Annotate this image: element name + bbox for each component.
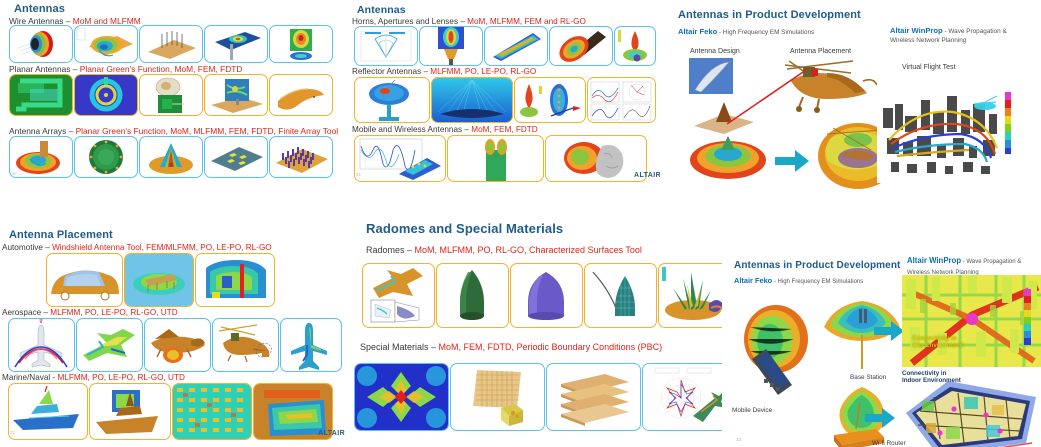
card-mobile-antenna-dual-element-on-board[interactable] [447,135,544,182]
altair-logo: ALTAIR [318,430,345,437]
card-planar-antenna-microstrip-current-density[interactable] [9,74,73,116]
row-label-planar-antennas: Planar Antennas – Planar Green's Functio… [9,64,242,74]
row-label-methods: MoM, FEM, FDTD [471,125,537,134]
isolated-antenna-pattern-graphic [685,130,771,182]
slide-antenna-placement: Antenna Placement Automotive – Windshiel… [0,220,345,447]
slide-antennas-2: Antennas Horns, Apertures and Lenses – M… [345,0,660,195]
row-label-text: Horns, Apertures and Lenses – [352,17,467,26]
card-large-reflector-surface-currents[interactable] [431,77,513,123]
brand-tagline: - High Frequency EM Simulations [717,29,814,36]
card-array-circular-aperture-mesh[interactable] [74,136,138,178]
card-array-main-beam-over-disc[interactable] [139,136,203,178]
row-label-methods: Planar Green's Function, MoM, FEM, FDTD [80,64,243,74]
card-planar-antenna-pcb-stackup[interactable] [139,74,203,116]
product-label-feko: Altair Feko - High Frequency EM Simulati… [678,27,814,36]
row-label-methods: Planar Green's Function, MoM, MLFMM, FEM… [76,126,339,136]
card-radome-boresight-error-pattern[interactable] [658,263,728,328]
row-label-marine-naval: Marine/Naval - MLFMM, PO, LE-PO, RL-GO, … [2,373,185,382]
slide-title: Antennas in Product Development [678,9,861,21]
row-label-mobile-wireless-antennas: Mobile and Wireless Antennas – MoM, FEM,… [352,125,538,134]
card-aerospace-transport-aircraft-with-lobe[interactable] [144,318,211,372]
brand-name: Altair WinProp [907,256,961,265]
row-label-methods: MLFMM, PO, LE-PO, RL-GO, UTD [50,308,177,317]
brand-name: Altair WinProp [890,26,943,35]
product-label-winprop: Altair WinProp - Wave Propagation & Wire… [890,27,1020,46]
slide-radomes: Radomes and Special Materials Radomes – … [352,215,730,447]
slides-composite-canvas: Antennas Wire Antennas – MoM and MLFMM [0,0,1041,447]
workflow-arrow-right-icon [775,150,809,172]
slide-title: Antennas [14,3,65,15]
brand-name: Altair Feko [678,27,717,36]
slide-title: Antennas in Product Development [734,260,900,271]
row-label-text: Automotive – [2,243,52,252]
brand-name: Altair Feko [734,276,772,285]
row-label-methods: MoM, MLFMM, FEM and RL-GO [467,17,586,26]
card-radome-solid-green-cone[interactable] [436,263,509,328]
card-naval-vessel-with-near-field-plane[interactable] [89,383,171,440]
mobile-device-pattern-graphic [736,297,824,407]
placement-ray-graphic [723,62,819,128]
page-number: 32 [10,430,15,435]
card-wire-antenna-mast-near-field-plane[interactable] [204,25,268,63]
card-radar-cross-section-polar-plot-aircraft[interactable] [642,363,730,431]
row-label-reflector-antennas: Reflector Antennas – MLFMM, PO, LE-PO, R… [352,67,536,76]
antenna-placement-caption: Antenna Placement [790,48,851,55]
row-label-text: Special Materials – [360,342,439,352]
card-array-3d-radiation-lobe-with-feed[interactable]: 30 [9,136,73,178]
slide-product-development-aero: Antennas in Product Development Altair F… [665,0,1041,195]
card-aerospace-airframe-field-distribution[interactable] [280,318,342,372]
workflow-arrow-indoor-icon [865,408,895,428]
card-radome-purple-ogive-dome[interactable] [510,263,583,328]
row-label-automotive: Automotive – Windshield Antenna Tool, FE… [2,243,272,252]
card-planar-antenna-curved-patch-substrate[interactable] [269,74,333,116]
card-automotive-windshield-antenna-car-model[interactable] [46,253,123,307]
card-array-four-patch-elements-on-plate[interactable] [204,136,268,178]
slide-product-development-wireless: Antennas in Product Development Altair F… [722,215,1041,447]
slide-antennas-1: Antennas Wire Antennas – MoM and MLFMM [0,0,340,195]
page-number: 33 [736,437,741,442]
row-label-text: Aerospace – [2,308,50,317]
card-automotive-cabin-field-distribution[interactable] [195,253,275,307]
row-label-text: Marine/Naval - [2,373,58,382]
colorbar [1005,92,1011,154]
card-naval-destroyer-surface-currents[interactable] [8,383,88,440]
card-metamaterial-jerusalem-cross-unit-cell-field[interactable] [354,363,449,431]
row-label-methods: Windshield Antenna Tool, FEM/MLFMM, PO, … [52,243,272,252]
brand-tagline: - High Frequency EM Simulations [772,279,863,285]
base-station-caption: Base Station [850,374,886,381]
card-aerospace-helicopter-with-uav[interactable] [212,318,279,372]
card-radome-aircraft-nose-cone-detail[interactable] [362,263,435,328]
card-radome-mesh-ogive-with-ray[interactable] [584,263,657,328]
card-lens-antenna-beam-with-colorbar[interactable] [614,26,656,66]
card-horn-antenna-polar-pattern-plot[interactable] [354,26,418,66]
row-label-text: Planar Antennas – [9,64,80,74]
card-naval-deck-field-map-grid[interactable] [172,383,252,440]
card-wire-antenna-field-map-with-disc[interactable] [269,25,333,63]
product-label-feko: Altair Feko - High Frequency EM Simulati… [734,276,863,285]
card-automotive-roof-antenna-radiation[interactable] [124,253,194,307]
slide-title: Antenna Placement [9,229,113,241]
altair-logo: ALTAIR [634,172,660,179]
card-wire-antenna-radiation-pattern-dish[interactable] [9,25,73,63]
city-coverage-map-graphic [902,275,1041,367]
card-aerospace-fighter-jet-currents[interactable] [76,318,143,372]
row-label-methods: MoM, FEM, FDTD, Periodic Boundary Condit… [439,342,663,352]
page-number: 30 [12,171,16,176]
virtual-flight-test-caption: Virtual Flight Test [902,64,955,71]
row-label-methods: MLFMM, PO, LE-PO, RL-GO, UTD [58,373,185,382]
page-number: 31 [356,172,361,177]
row-label-text: Reflector Antennas – [352,67,430,76]
indoor-connectivity-caption: Connectivity in Indoor Environment [902,370,961,385]
row-label-methods: MoM, MLFMM, PO, RL-GO, Characterized Sur… [415,245,642,255]
city-connectivity-caption: Connectivity in City Environment [912,335,963,350]
mobile-device-caption: Mobile Device [732,407,772,414]
row-label-horns-apertures-lenses: Horns, Apertures and Lenses – MoM, MLFMM… [352,17,586,26]
row-label-methods: MLFMM, PO, LE-PO, RL-GO [430,67,536,76]
card-array-finite-pin-lattice[interactable] [269,136,333,178]
slide-title: Radomes and Special Materials [366,221,563,236]
row-label-text: Mobile and Wireless Antennas – [352,125,471,134]
workflow-arrow-city-icon [874,321,904,341]
virtual-flight-test-city-graphic [877,78,1017,183]
card-aerospace-airliner-pattern-overlay[interactable] [8,318,75,372]
card-layered-dielectric-stack[interactable] [546,363,641,431]
card-frequency-selective-surface-patch-array[interactable] [450,363,545,431]
colorbar [1024,289,1031,345]
card-reflector-results-charts[interactable] [587,77,656,123]
card-planar-antenna-circular-slot-field[interactable] [74,74,138,116]
card-planar-antenna-vertical-field-cut[interactable] [204,74,268,116]
row-label-aerospace: Aerospace – MLFMM, PO, LE-PO, RL-GO, UTD [2,308,178,317]
card-reflector-dish-on-pedestal-currents[interactable] [354,77,430,123]
card-wire-antenna-pattern-over-ground-plane[interactable] [74,25,138,63]
row-label-antenna-arrays: Antenna Arrays – Planar Green's Function… [9,126,338,136]
card-lens-antenna-slanted-field-slab[interactable] [484,26,548,66]
card-horn-antenna-3d-gain-pattern[interactable] [549,26,613,66]
row-label-radomes: Radomes – MoM, MLFMM, PO, RL-GO, Charact… [366,245,642,255]
row-label-special-materials: Special Materials – MoM, FEM, FDTD, Peri… [360,342,662,352]
antenna-design-caption: Antenna Design [690,48,740,55]
card-horn-antenna-aperture-near-field[interactable] [419,26,483,66]
row-label-text: Antenna Arrays – [9,126,76,136]
row-label-text: Radomes – [366,245,415,255]
card-mobile-antenna-s-parameter-chart-and-handset[interactable] [354,135,446,182]
card-sar-head-phantom-radiation-pattern[interactable] [545,135,647,182]
card-reflector-feed-pattern-and-subreflector[interactable] [514,77,586,123]
card-wire-antenna-monopole-array-on-plate[interactable] [139,25,203,63]
slide-title: Antennas [357,4,406,16]
